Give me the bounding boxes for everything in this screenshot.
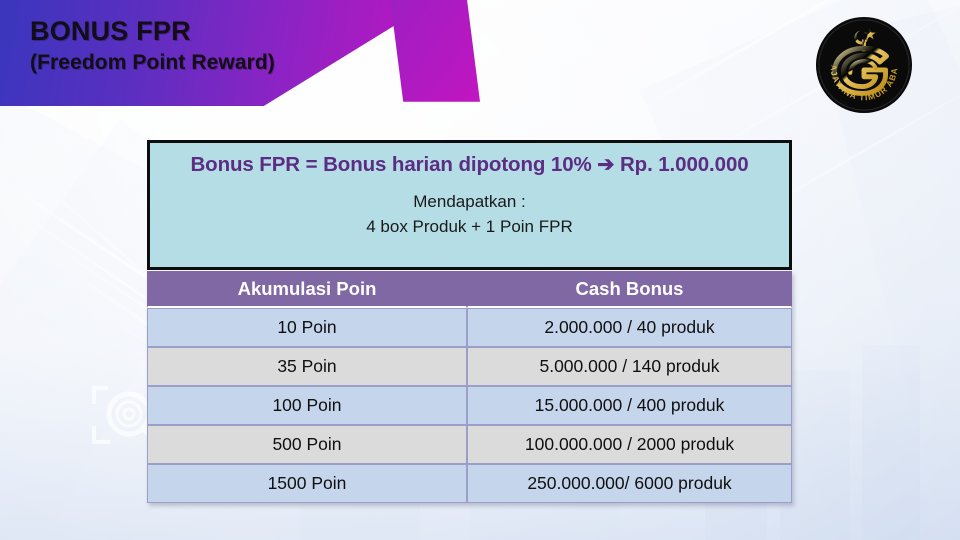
cell-bonus: 2.000.000 / 40 produk: [467, 308, 792, 347]
header-text-block: BONUS FPR (Freedom Point Reward): [30, 14, 275, 78]
slide-canvas: BONUS FPR (Freedom Point Reward) GAJAYAN…: [0, 0, 960, 540]
table-row: 1500 Poin 250.000.000/ 6000 produk: [147, 464, 792, 503]
cell-poin: 100 Poin: [147, 386, 467, 425]
cell-poin: 500 Poin: [147, 425, 467, 464]
table-row: 35 Poin 5.000.000 / 140 produk: [147, 347, 792, 386]
table-row: 100 Poin 15.000.000 / 400 produk: [147, 386, 792, 425]
bonus-reward-details: Mendapatkan : 4 box Produk + 1 Poin FPR: [164, 189, 775, 239]
bonus-table: Akumulasi Poin Cash Bonus 10 Poin 2.000.…: [147, 271, 792, 503]
table-row: 500 Poin 100.000.000 / 2000 produk: [147, 425, 792, 464]
cell-poin: 1500 Poin: [147, 464, 467, 503]
column-header-cash-bonus: Cash Bonus: [467, 271, 792, 308]
table-body: 10 Poin 2.000.000 / 40 produk 35 Poin 5.…: [147, 308, 792, 503]
bonus-formula-text: Bonus FPR = Bonus harian dipotong 10%: [190, 153, 591, 176]
arrow-right-icon: ➔: [597, 153, 614, 176]
page-subtitle: (Freedom Point Reward): [30, 48, 275, 78]
cell-bonus: 15.000.000 / 400 produk: [467, 386, 792, 425]
bonus-formula-headline: Bonus FPR = Bonus harian dipotong 10% ➔ …: [164, 151, 775, 179]
bonus-formula-amount: Rp. 1.000.000: [620, 153, 749, 176]
page-title: BONUS FPR: [30, 14, 275, 48]
table-row: 10 Poin 2.000.000 / 40 produk: [147, 308, 792, 347]
reward-label: Mendapatkan :: [164, 189, 775, 214]
cell-bonus: 100.000.000 / 2000 produk: [467, 425, 792, 464]
cell-bonus: 5.000.000 / 140 produk: [467, 347, 792, 386]
cell-bonus: 250.000.000/ 6000 produk: [467, 464, 792, 503]
table-header-row: Akumulasi Poin Cash Bonus: [147, 271, 792, 308]
bonus-formula-box: Bonus FPR = Bonus harian dipotong 10% ➔ …: [147, 140, 792, 270]
cell-poin: 35 Poin: [147, 347, 467, 386]
column-header-akumulasi-poin: Akumulasi Poin: [147, 271, 467, 308]
cell-poin: 10 Poin: [147, 308, 467, 347]
reward-value: 4 box Produk + 1 Poin FPR: [164, 214, 775, 239]
gajayana-timur-abadi-logo: GAJAYANA TIMUR ABADI: [815, 16, 913, 114]
